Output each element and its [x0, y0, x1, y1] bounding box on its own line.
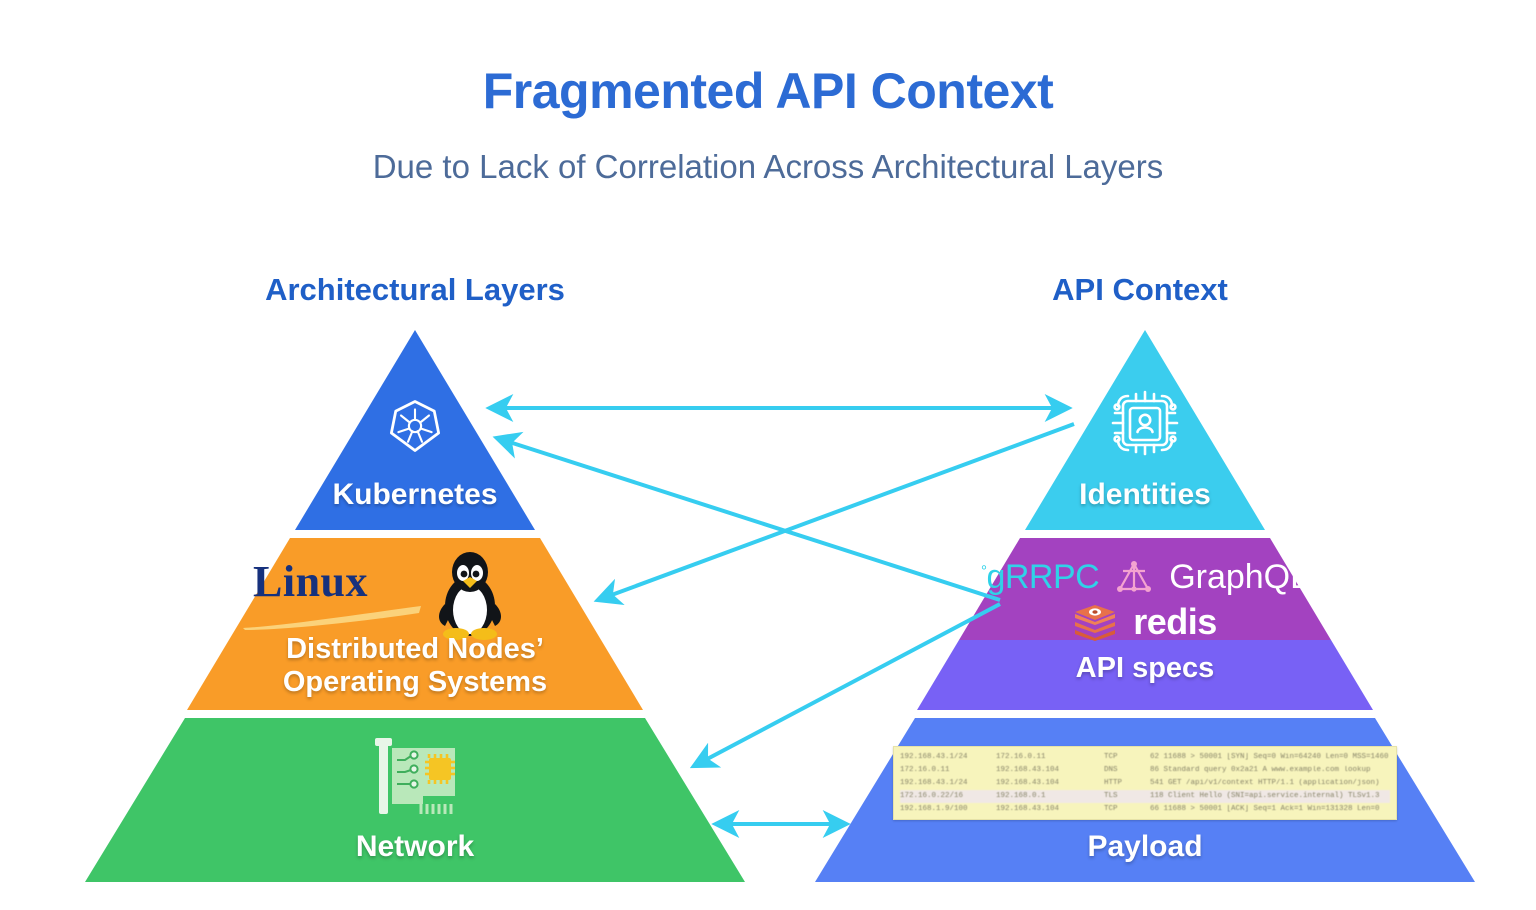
packet-capture-row: 192.168.1.9/100192.168.43.104TCP66 11688… — [900, 803, 1390, 816]
packet-capture-row: 172.16.0.22/16192.168.0.1TLS118 Client H… — [900, 790, 1390, 803]
packet-capture-cell-c3: DNS — [1104, 764, 1150, 777]
packet-capture-cell-c4: 541 GET /api/v1/context HTTP/1.1 (applic… — [1150, 777, 1390, 790]
packet-capture-cell-c2: 192.168.43.104 — [996, 764, 1104, 777]
packet-capture-table-icon: 192.168.43.1/24172.16.0.11TCP62 11688 > … — [893, 746, 1397, 820]
packet-capture-cell-c1: 192.168.43.1/24 — [900, 751, 996, 764]
linux-wordmark: Linux — [253, 556, 368, 607]
packet-capture-row: 192.168.43.1/24192.168.43.104HTTP541 GET… — [900, 777, 1390, 790]
api-logo-row-1: °gRRPC GraphQL — [815, 558, 1475, 597]
packet-capture-cell-c3: TLS — [1104, 790, 1150, 803]
packet-capture-cell-c2: 192.168.43.104 — [996, 803, 1104, 816]
pyramid-tier-network[interactable]: Network — [85, 718, 745, 882]
page-subtitle: Due to Lack of Correlation Across Archit… — [0, 148, 1536, 186]
identity-chip-icon — [815, 384, 1475, 467]
pyramid-tier-identities[interactable]: Identities — [815, 330, 1475, 530]
grpc-logo: °gRRPC — [981, 558, 1099, 597]
packet-capture-cell-c4: 118 Client Hello (SNI=api.service.intern… — [1150, 790, 1390, 803]
redis-mark-icon — [1073, 603, 1117, 641]
packet-capture-cell-c1: 192.168.43.1/24 — [900, 777, 996, 790]
packet-capture-cell-c2: 192.168.0.1 — [996, 790, 1104, 803]
packet-capture-cell-c4: 62 11688 > 50001 [SYN] Seq=0 Win=64240 L… — [1150, 751, 1390, 764]
column-heading-architectural-layers: Architectural Layers — [155, 272, 675, 308]
pyramid-tier-operating-systems[interactable]: Linux — [85, 538, 745, 710]
diagram-canvas: Fragmented API Context Due to Lack of Co… — [0, 0, 1536, 910]
packet-capture-cell-c1: 172.16.0.11 — [900, 764, 996, 777]
api-spec-logo-group: °gRRPC GraphQL — [815, 558, 1475, 643]
packet-capture-cell-c4: 66 11688 > 50001 [ACK] Seq=1 Ack=1 Win=1… — [1150, 803, 1390, 816]
grpc-wordmark: gRRPC — [986, 558, 1099, 596]
packet-capture-rows: 192.168.43.1/24172.16.0.11TCP62 11688 > … — [900, 751, 1390, 816]
redis-wordmark: redis — [1133, 601, 1217, 643]
linux-swoosh-icon — [241, 604, 423, 630]
page-title: Fragmented API Context — [0, 62, 1536, 120]
packet-capture-cell-c3: TCP — [1104, 751, 1150, 764]
network-interface-card-icon — [85, 734, 745, 827]
packet-capture-row: 192.168.43.1/24172.16.0.11TCP62 11688 > … — [900, 751, 1390, 764]
packet-capture-cell-c2: 172.16.0.11 — [996, 751, 1104, 764]
linux-tux-penguin-icon — [433, 548, 507, 640]
graphql-wordmark: GraphQL — [1169, 558, 1309, 597]
pyramid-tier-payload[interactable]: 192.168.43.1/24172.16.0.11TCP62 11688 > … — [815, 718, 1475, 882]
pyramid-tier-api-specs[interactable]: °gRRPC GraphQL — [815, 538, 1475, 710]
column-heading-api-context: API Context — [880, 272, 1400, 308]
packet-capture-cell-c3: HTTP — [1104, 777, 1150, 790]
api-context-pyramid: Identities °gRRPC — [815, 330, 1475, 882]
graphql-mark-icon — [1115, 559, 1153, 597]
packet-capture-cell-c2: 192.168.43.104 — [996, 777, 1104, 790]
linux-logo: Linux — [85, 552, 745, 638]
architectural-layers-pyramid: Kubernetes Linux — [85, 330, 745, 882]
packet-capture-cell-c1: 172.16.0.22/16 — [900, 790, 996, 803]
kubernetes-helm-wheel-icon — [85, 398, 745, 459]
api-logo-row-2: redis — [815, 601, 1475, 643]
packet-capture-row: 172.16.0.11192.168.43.104DNS86 Standard … — [900, 764, 1390, 777]
packet-capture-cell-c4: 86 Standard query 0x2a21 A www.example.c… — [1150, 764, 1390, 777]
packet-capture-cell-c3: TCP — [1104, 803, 1150, 816]
packet-capture-cell-c1: 192.168.1.9/100 — [900, 803, 996, 816]
pyramid-tier-kubernetes[interactable]: Kubernetes — [85, 330, 745, 530]
